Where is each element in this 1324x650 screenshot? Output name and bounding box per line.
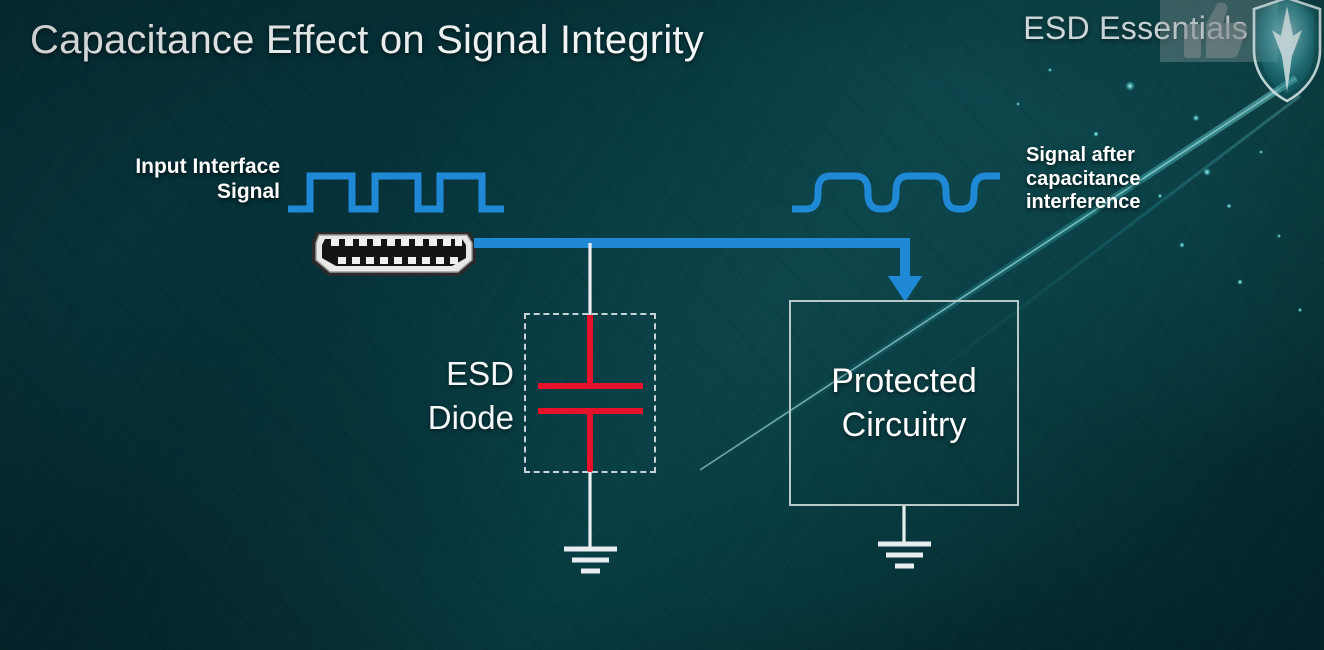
ground-symbol-capacitor — [564, 549, 617, 571]
input-signal-label-line1: Input Interface — [60, 155, 280, 180]
hdmi-connector — [0, 0, 1324, 650]
output-signal-label-line1: Signal after — [1026, 144, 1216, 168]
vignette-overlay — [0, 0, 1324, 650]
esd-diode-label: ESD Diode — [404, 352, 514, 439]
output-signal-label: Signal after capacitance interference — [1026, 144, 1216, 215]
input-signal-label-line2: Signal — [60, 180, 280, 205]
esd-diode-label-line1: ESD — [404, 352, 514, 396]
protected-circuitry-box: Protected Circuitry — [789, 300, 1019, 506]
protected-circuitry-line1: Protected — [831, 362, 977, 400]
thumbs-up-icon — [1184, 2, 1248, 60]
shield-icon — [1250, 0, 1324, 106]
protected-circuitry-label: Protected Circuitry — [831, 359, 977, 447]
hdmi-pins — [331, 239, 462, 264]
ground-symbol-circuitry — [878, 506, 931, 566]
page-title: Capacitance Effect on Signal Integrity — [30, 18, 704, 63]
decorative-beam-layer — [0, 0, 1324, 650]
hdmi-connector-body — [312, 232, 476, 276]
signal-arrowhead — [888, 276, 922, 302]
output-signal-label-line3: interference — [1026, 191, 1216, 215]
background-texture — [0, 0, 1324, 650]
output-waveform-rounded — [792, 176, 1000, 209]
esd-diode-label-line2: Diode — [404, 396, 514, 440]
esd-diode-dashed-box — [524, 313, 656, 473]
input-signal-label: Input Interface Signal — [60, 155, 280, 205]
circuit-layer — [0, 0, 1324, 650]
waveform-layer — [0, 0, 1324, 650]
protected-circuitry-line2: Circuitry — [842, 406, 967, 444]
slide-canvas: Capacitance Effect on Signal Integrity E… — [0, 0, 1324, 650]
output-signal-label-line2: capacitance — [1026, 168, 1216, 192]
signal-trace-blue — [474, 243, 922, 302]
input-waveform-clean-square — [288, 176, 504, 209]
